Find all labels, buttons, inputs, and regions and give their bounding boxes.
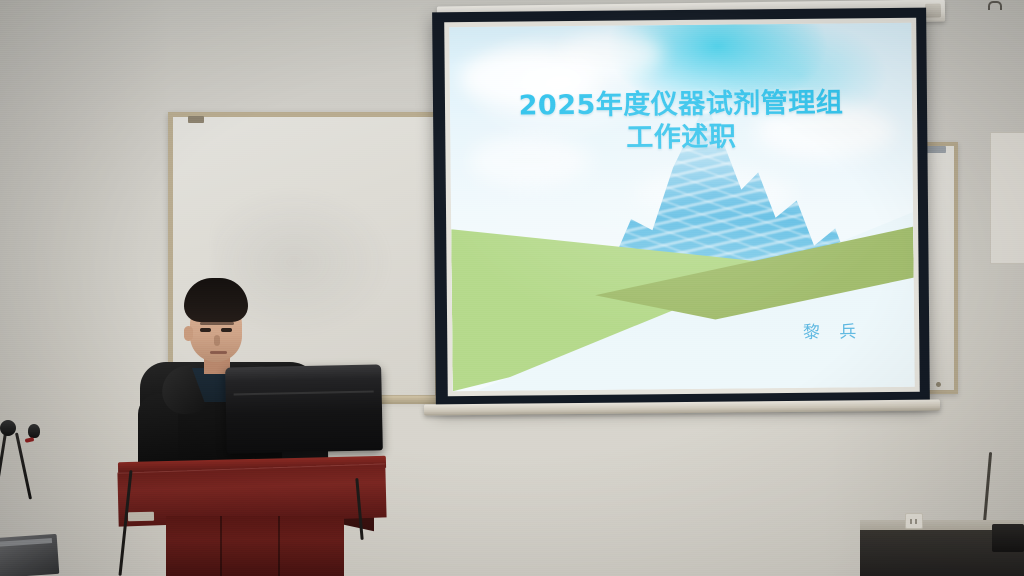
presentation-room-photo: 2025年度仪器试剂管理组 工作述职 黎 兵 <box>0 0 1024 576</box>
photo-vignette <box>0 0 1024 576</box>
